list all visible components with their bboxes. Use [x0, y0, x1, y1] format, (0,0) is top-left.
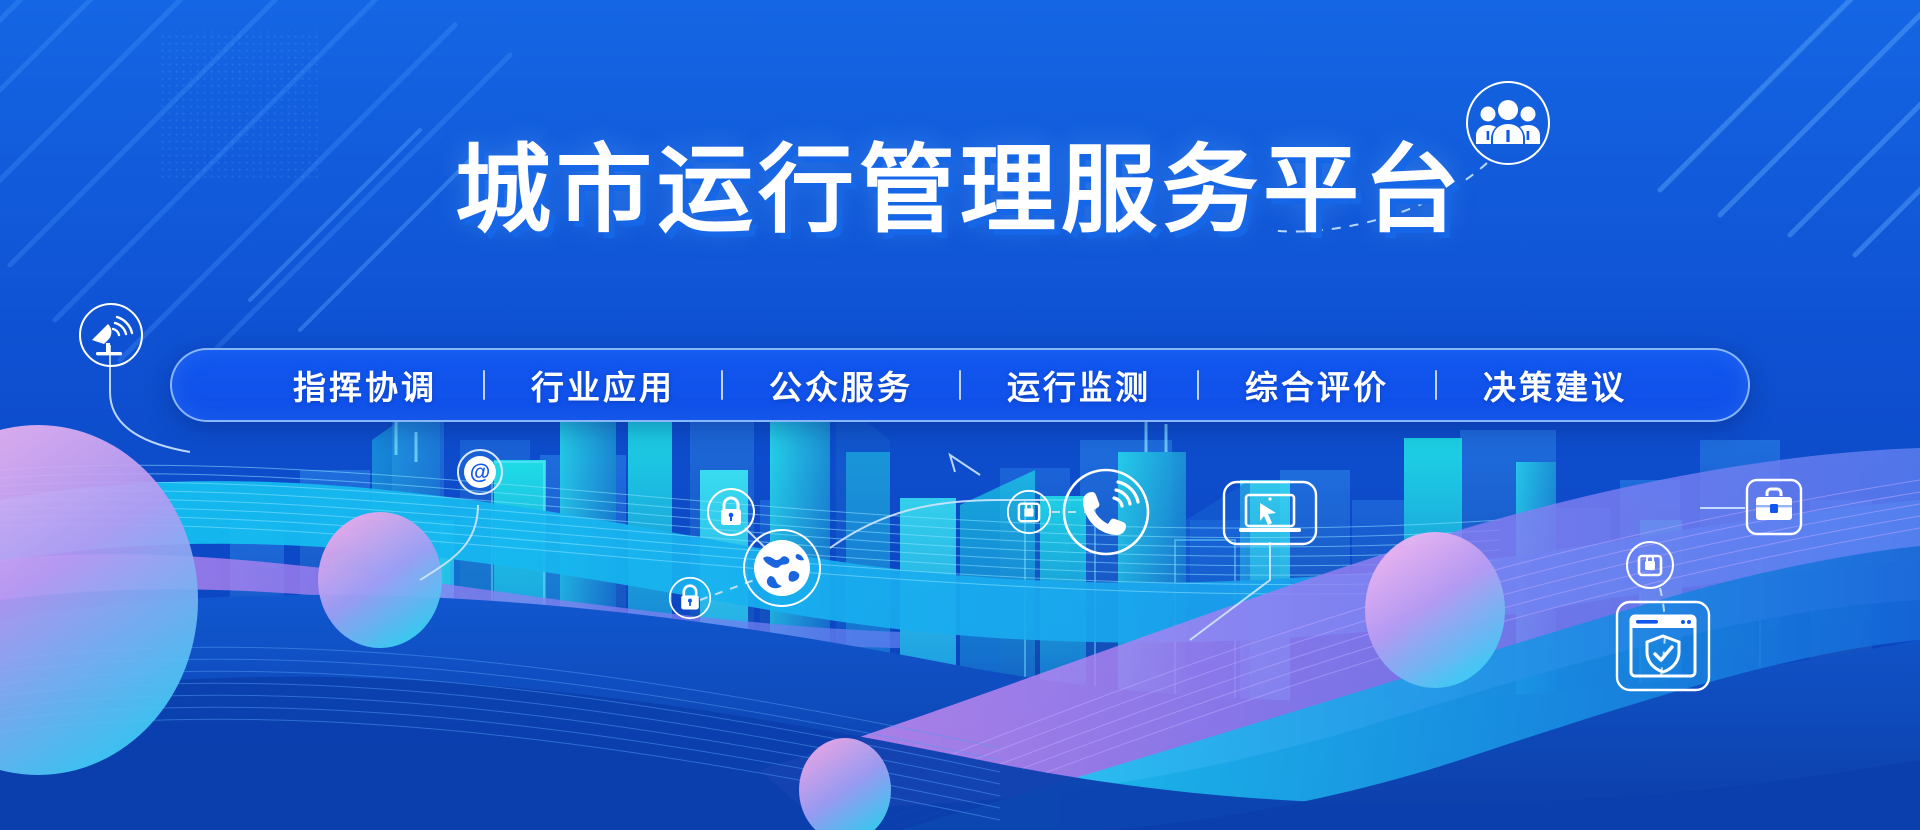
nav-item-operation-monitoring[interactable]: 运行监测 [961, 361, 1197, 409]
lock-icon[interactable] [1625, 540, 1675, 590]
nav-item-comprehensive-evaluation[interactable]: 综合评价 [1199, 361, 1435, 409]
nav-item-decision-suggestion[interactable]: 决策建议 [1437, 361, 1673, 409]
browser-shield-icon[interactable] [1615, 600, 1711, 692]
nav-item-industry-application[interactable]: 行业应用 [485, 361, 721, 409]
nav-item-public-service[interactable]: 公众服务 [723, 361, 959, 409]
people-group-icon[interactable] [1465, 80, 1551, 166]
globe-icon[interactable] [742, 528, 822, 608]
laptop-cursor-icon[interactable] [1222, 480, 1318, 546]
at-sign-icon[interactable]: @ [456, 448, 504, 496]
satellite-dish-icon[interactable] [78, 302, 144, 368]
phone-call-icon[interactable] [1062, 468, 1150, 556]
briefcase-icon[interactable] [1745, 478, 1803, 536]
lock-icon[interactable] [1006, 489, 1052, 535]
city-platform-banner: 城市运行管理服务平台 指挥协调 行业应用 公众服务 运行监测 综合评价 决策建议 [0, 0, 1920, 830]
nav-item-command-coordination[interactable]: 指挥协调 [247, 361, 483, 409]
lock-icon[interactable] [668, 576, 712, 620]
nav-items-container: 指挥协调 行业应用 公众服务 运行监测 综合评价 决策建议 [247, 361, 1673, 409]
svg-text:@: @ [470, 461, 490, 484]
primary-nav-pill[interactable]: 指挥协调 行业应用 公众服务 运行监测 综合评价 决策建议 [170, 348, 1750, 422]
